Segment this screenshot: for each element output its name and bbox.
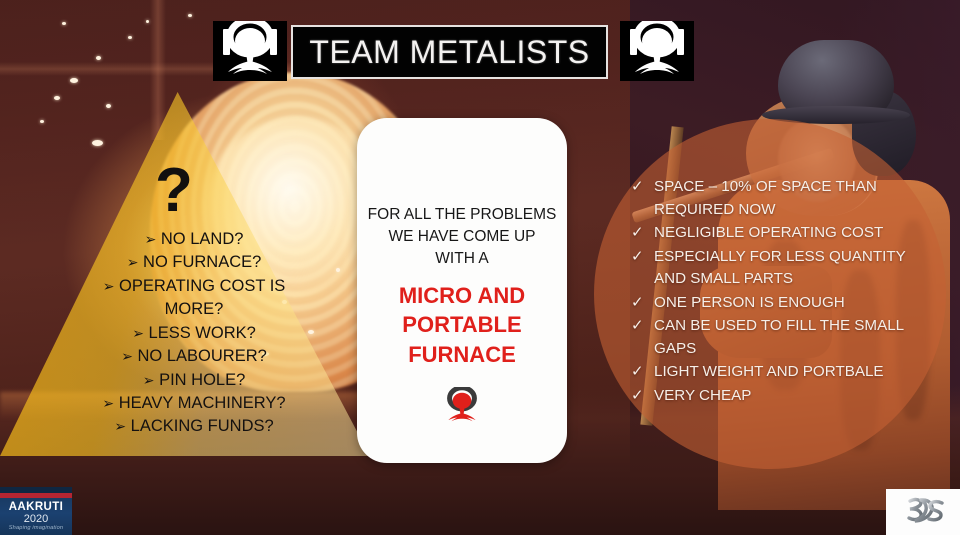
- page-title: TEAM METALISTS: [309, 34, 589, 71]
- spark: [146, 20, 149, 23]
- crucible-pour-icon: [213, 21, 287, 81]
- crucible-pour-icon: [620, 21, 694, 81]
- aakruti-red-bar: [0, 493, 72, 498]
- bullet-arrow-icon: ➢: [114, 418, 126, 434]
- check-icon: ✓: [631, 246, 644, 268]
- solution-intro-line: FOR ALL THE PROBLEMS: [367, 204, 557, 226]
- bullet-arrow-icon: ➢: [143, 372, 155, 388]
- check-icon: ✓: [631, 385, 644, 407]
- solution-intro-line: WE HAVE COME UP: [367, 226, 557, 248]
- bullet-arrow-icon: ➢: [127, 254, 139, 270]
- solution-intro: FOR ALL THE PROBLEMS WE HAVE COME UP WIT…: [367, 204, 557, 270]
- 3ds-icon: [897, 495, 949, 529]
- list-item-label: PIN HOLE?: [159, 371, 245, 389]
- bullet-arrow-icon: ➢: [103, 278, 115, 294]
- list-item: ➢ NO FURNACE?: [88, 251, 300, 274]
- list-item-label: CAN BE USED TO FILL THE SMALL GAPS: [654, 317, 904, 357]
- spark: [128, 36, 132, 39]
- aakruti-badge: AAKRUTI 2020 Shaping imagination: [0, 487, 72, 535]
- list-item: ✓ VERY CHEAP: [631, 385, 921, 408]
- list-item: ✓ SPACE – 10% OF SPACE THAN REQUIRED NOW: [631, 176, 921, 221]
- problems-list: ➢ NO LAND? ➢ NO FURNACE? ➢ OPERATING COS…: [88, 228, 300, 439]
- list-item-label: ONE PERSON IS ENOUGH: [654, 294, 845, 311]
- team-logo-left: [213, 21, 287, 81]
- solution-highlight-line: FURNACE: [399, 340, 525, 369]
- bullet-arrow-icon: ➢: [145, 231, 157, 247]
- check-icon: ✓: [631, 315, 644, 337]
- list-item-label: LESS WORK?: [149, 324, 256, 342]
- spark: [54, 96, 60, 100]
- bullet-arrow-icon: ➢: [132, 325, 144, 341]
- list-item: ✓ ONE PERSON IS ENOUGH: [631, 292, 921, 315]
- list-item: ➢ HEAVY MACHINERY?: [88, 392, 300, 415]
- spark: [308, 330, 314, 334]
- spark: [336, 268, 340, 272]
- list-item-label: LIGHT WEIGHT AND PORTBALE: [654, 363, 884, 380]
- spark: [106, 104, 111, 108]
- benefits-list: ✓ SPACE – 10% OF SPACE THAN REQUIRED NOW…: [631, 176, 921, 408]
- aakruti-tagline: Shaping imagination: [0, 525, 72, 531]
- solution-highlight: MICRO AND PORTABLE FURNACE: [399, 281, 525, 369]
- list-item: ✓ CAN BE USED TO FILL THE SMALL GAPS: [631, 315, 921, 360]
- partner-logo: [886, 489, 960, 535]
- bullet-arrow-icon: ➢: [121, 348, 133, 364]
- list-item-label: LACKING FUNDS?: [131, 417, 274, 435]
- solution-highlight-line: PORTABLE: [399, 310, 525, 339]
- presentation-title-box: TEAM METALISTS: [291, 25, 608, 79]
- crucible-pour-icon: [439, 387, 485, 427]
- solution-card: FOR ALL THE PROBLEMS WE HAVE COME UP WIT…: [357, 118, 567, 463]
- list-item-label: NEGLIGIBLE OPERATING COST: [654, 224, 883, 241]
- solution-card-logo: [439, 387, 485, 432]
- aakruti-name: AAKRUTI: [0, 501, 72, 513]
- list-item: ✓ NEGLIGIBLE OPERATING COST: [631, 222, 921, 245]
- list-item: ➢ LESS WORK?: [88, 322, 300, 345]
- aakruti-year: 2020: [0, 513, 72, 525]
- spark: [40, 120, 44, 123]
- spark: [92, 140, 103, 146]
- list-item-label: HEAVY MACHINERY?: [119, 394, 286, 412]
- list-item-label: ESPECIALLY FOR LESS QUANTITY AND SMALL P…: [654, 248, 906, 288]
- spark: [188, 14, 192, 17]
- check-icon: ✓: [631, 292, 644, 314]
- solution-highlight-line: MICRO AND: [399, 281, 525, 310]
- spark: [70, 78, 78, 83]
- list-item: ➢ NO LABOURER?: [88, 345, 300, 368]
- check-icon: ✓: [631, 222, 644, 244]
- list-item: ➢ OPERATING COST IS MORE?: [88, 275, 300, 322]
- list-item: ✓ ESPECIALLY FOR LESS QUANTITY AND SMALL…: [631, 246, 921, 291]
- spark: [62, 22, 66, 25]
- slide-canvas: TEAM METALISTS ? ➢ NO LAND? ➢ NO FURNACE…: [0, 0, 960, 535]
- list-item: ➢ NO LAND?: [88, 228, 300, 251]
- list-item-label: NO LAND?: [161, 230, 244, 248]
- list-item-label: SPACE – 10% OF SPACE THAN REQUIRED NOW: [654, 178, 877, 218]
- list-item-label: NO FURNACE?: [143, 253, 261, 271]
- list-item: ➢ LACKING FUNDS?: [88, 415, 300, 438]
- check-icon: ✓: [631, 176, 644, 198]
- question-mark: ?: [155, 160, 193, 222]
- spark: [96, 56, 101, 60]
- team-logo-right: [620, 21, 694, 81]
- list-item-label: VERY CHEAP: [654, 387, 751, 404]
- solution-intro-line: WITH A: [367, 248, 557, 270]
- list-item-label: OPERATING COST IS MORE?: [119, 277, 285, 318]
- list-item: ➢ PIN HOLE?: [88, 369, 300, 392]
- list-item-label: NO LABOURER?: [138, 347, 267, 365]
- bullet-arrow-icon: ➢: [102, 395, 114, 411]
- check-icon: ✓: [631, 361, 644, 383]
- list-item: ✓ LIGHT WEIGHT AND PORTBALE: [631, 361, 921, 384]
